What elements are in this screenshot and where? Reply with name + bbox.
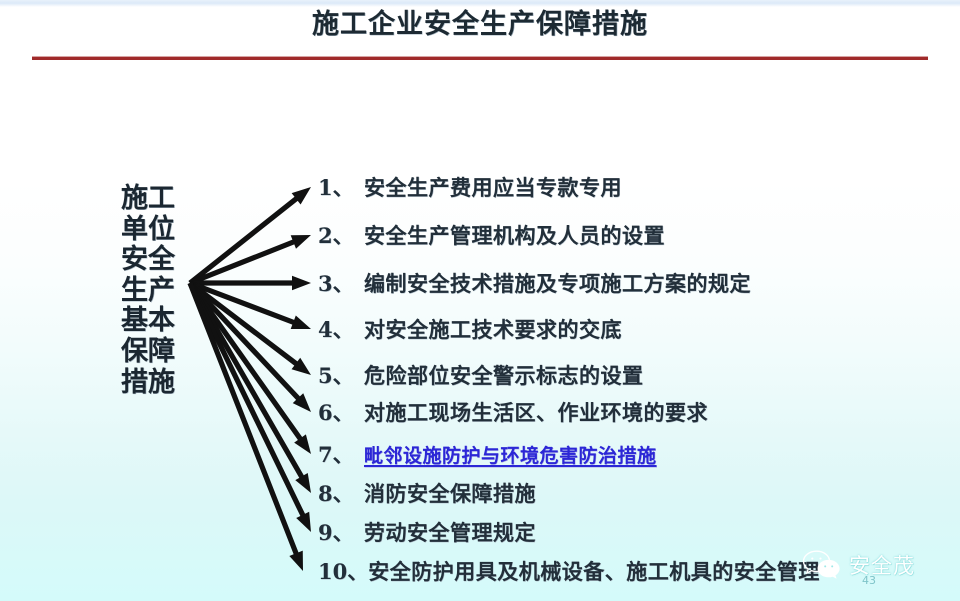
footer-account-name: 安全茂 <box>849 550 915 580</box>
root-label-char: 单 <box>121 215 148 246</box>
measure-item-number: 7、 <box>318 439 364 469</box>
measure-item-4[interactable]: 4、对安全施工技术要求的交底 <box>318 312 622 346</box>
root-label-char: 施 <box>121 184 148 215</box>
measure-item-number: 9、 <box>318 517 364 547</box>
fan-arrow-9 <box>188 282 311 532</box>
fan-arrow-2 <box>189 235 311 285</box>
measure-item-text: 安全生产管理机构及人员的设置 <box>364 220 665 250</box>
root-label-char: 保 <box>121 337 148 368</box>
measure-item-7[interactable]: 7、毗邻设施防护与环境危害防治措施 <box>318 437 657 471</box>
page-title: 施工企业安全生产保障措施 <box>0 8 960 42</box>
root-label-char: 生 <box>121 276 148 307</box>
title-divider-rule <box>32 56 928 60</box>
measure-item-text: 消防安全保障措施 <box>364 478 536 508</box>
fan-arrow-1 <box>188 187 311 285</box>
measure-item-number: 4、 <box>318 314 364 344</box>
measure-item-number: 10、 <box>318 556 368 586</box>
measure-item-number: 6、 <box>318 397 364 427</box>
root-label-char: 安 <box>121 245 148 276</box>
root-label-char: 基 <box>121 306 148 337</box>
measure-item-number: 1、 <box>318 172 364 202</box>
measure-item-8[interactable]: 8、消防安全保障措施 <box>318 476 536 510</box>
measure-item-9[interactable]: 9、劳动安全管理规定 <box>318 515 536 549</box>
root-label-char: 施 <box>148 368 175 399</box>
fan-arrow-3 <box>190 276 311 290</box>
measure-item-number: 8、 <box>318 478 364 508</box>
root-label-column-1: 施 单 安 生 基 保 措 <box>121 184 148 398</box>
measure-item-text: 安全生产费用应当专款专用 <box>364 172 622 202</box>
fan-arrow-8 <box>188 282 311 493</box>
root-label-char: 位 <box>148 215 175 246</box>
measure-item-text: 危险部位安全警示标志的设置 <box>364 360 644 390</box>
measure-item-number: 3、 <box>318 268 364 298</box>
measure-item-6[interactable]: 6、对施工现场生活区、作业环境的要求 <box>318 395 708 429</box>
fan-arrow-4 <box>189 281 311 329</box>
measure-item-text: 编制安全技术措施及专项施工方案的规定 <box>364 268 751 298</box>
measure-item-2[interactable]: 2、安全生产管理机构及人员的设置 <box>318 218 665 252</box>
fan-arrow-7 <box>188 282 311 455</box>
slide-canvas: 施工企业安全生产保障措施 施 单 安 生 基 保 措 工 位 全 产 本 障 施… <box>0 0 960 601</box>
root-label-char: 本 <box>148 306 175 337</box>
measure-item-5[interactable]: 5、危险部位安全警示标志的设置 <box>318 358 644 392</box>
wechat-icon <box>800 548 842 582</box>
root-label-char: 障 <box>148 337 175 368</box>
root-label-vertical: 施 单 安 生 基 保 措 工 位 全 产 本 障 施 <box>112 184 184 398</box>
measure-item-text: 安全防护用具及机械设备、施工机具的安全管理 <box>368 556 820 586</box>
measure-item-text: 劳动安全管理规定 <box>364 517 536 547</box>
measure-item-3[interactable]: 3、编制安全技术措施及专项施工方案的规定 <box>318 266 751 300</box>
root-label-char: 全 <box>148 245 175 276</box>
measure-item-1[interactable]: 1、安全生产费用应当专款专用 <box>318 170 622 204</box>
measure-item-text: 对安全施工技术要求的交底 <box>364 314 622 344</box>
measure-item-text: 毗邻设施防护与环境危害防治措施 <box>364 441 657 468</box>
fan-arrow-5 <box>188 281 311 375</box>
measure-item-number: 5、 <box>318 360 364 390</box>
page-number: 43 <box>862 574 876 587</box>
measure-item-number: 2、 <box>318 220 364 250</box>
top-decorative-band <box>0 0 960 7</box>
fan-arrow-6 <box>188 281 311 412</box>
fan-arrow-10 <box>188 282 303 571</box>
measure-item-10[interactable]: 10、安全防护用具及机械设备、施工机具的安全管理 <box>318 554 820 588</box>
root-label-char: 工 <box>148 184 175 215</box>
root-label-column-2: 工 位 全 产 本 障 施 <box>148 184 175 398</box>
root-label-char: 产 <box>148 276 175 307</box>
root-label-char: 措 <box>121 368 148 399</box>
measure-item-text: 对施工现场生活区、作业环境的要求 <box>364 397 708 427</box>
